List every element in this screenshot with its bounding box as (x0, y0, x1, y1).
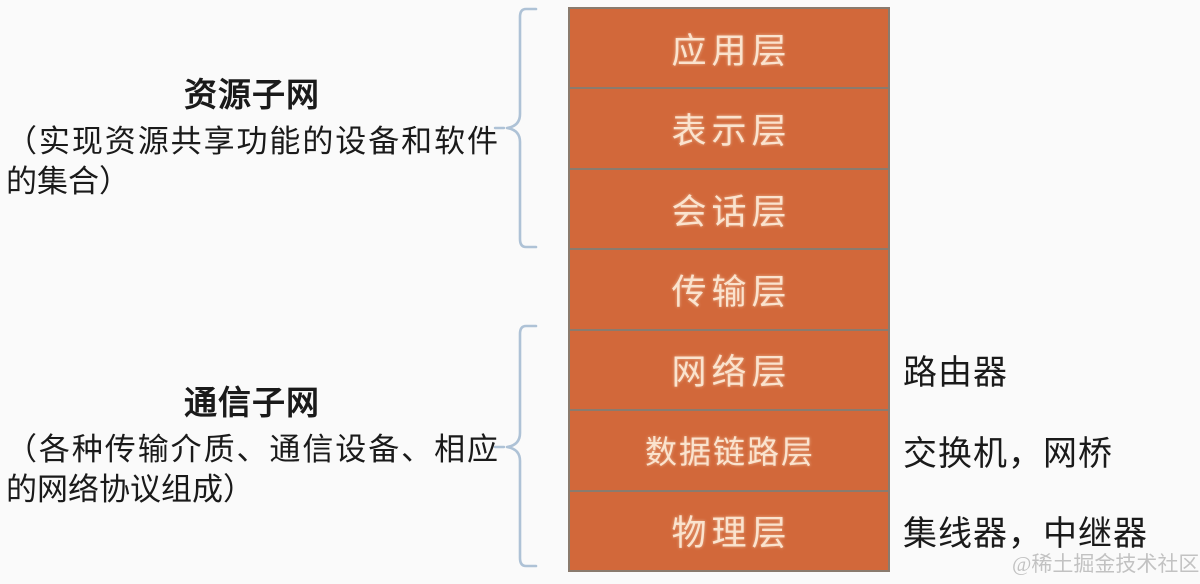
device-label-network: 路由器 (903, 345, 1008, 394)
layer-row-network[interactable]: 网络层 (570, 331, 888, 411)
layer-label-application: 应用层 (666, 23, 791, 74)
layer-label-session: 会话层 (666, 184, 791, 235)
watermark: @稀土掘金技术社区 (1012, 548, 1199, 578)
layer-row-session[interactable]: 会话层 (570, 170, 888, 250)
resource-subnet-annotation: 资源子网 （实现资源共享功能的设备和软件的集合） (2, 78, 502, 201)
resource-subnet-title: 资源子网 (2, 78, 502, 116)
communication-subnet-title: 通信子网 (2, 386, 502, 424)
layer-row-application[interactable]: 应用层 (570, 9, 888, 89)
communication-subnet-brace (492, 318, 538, 579)
layer-row-physical[interactable]: 物理层 (570, 492, 888, 570)
layer-label-physical: 物理层 (666, 505, 791, 556)
layer-label-presentation: 表示层 (666, 103, 791, 154)
layer-label-data-link: 数据链路层 (643, 427, 815, 473)
osi-layer-stack: 应用层 表示层 会话层 传输层 网络层 数据链路层 物理层 (568, 7, 890, 572)
layer-row-data-link[interactable]: 数据链路层 (570, 411, 888, 491)
resource-subnet-brace (492, 2, 538, 259)
communication-subnet-description: （各种传输介质、通信设备、相应的网络协议组成） (2, 430, 502, 509)
device-label-data-link: 交换机，网桥 (903, 426, 1113, 475)
diagram-canvas: 资源子网 （实现资源共享功能的设备和软件的集合） 通信子网 （各种传输介质、通信… (0, 0, 1200, 584)
layer-label-network: 网络层 (666, 344, 791, 395)
layer-row-presentation[interactable]: 表示层 (570, 89, 888, 169)
layer-row-transport[interactable]: 传输层 (570, 250, 888, 330)
layer-label-transport: 传输层 (666, 264, 791, 315)
resource-subnet-description: （实现资源共享功能的设备和软件的集合） (2, 122, 502, 201)
communication-subnet-annotation: 通信子网 （各种传输介质、通信设备、相应的网络协议组成） (2, 386, 502, 509)
